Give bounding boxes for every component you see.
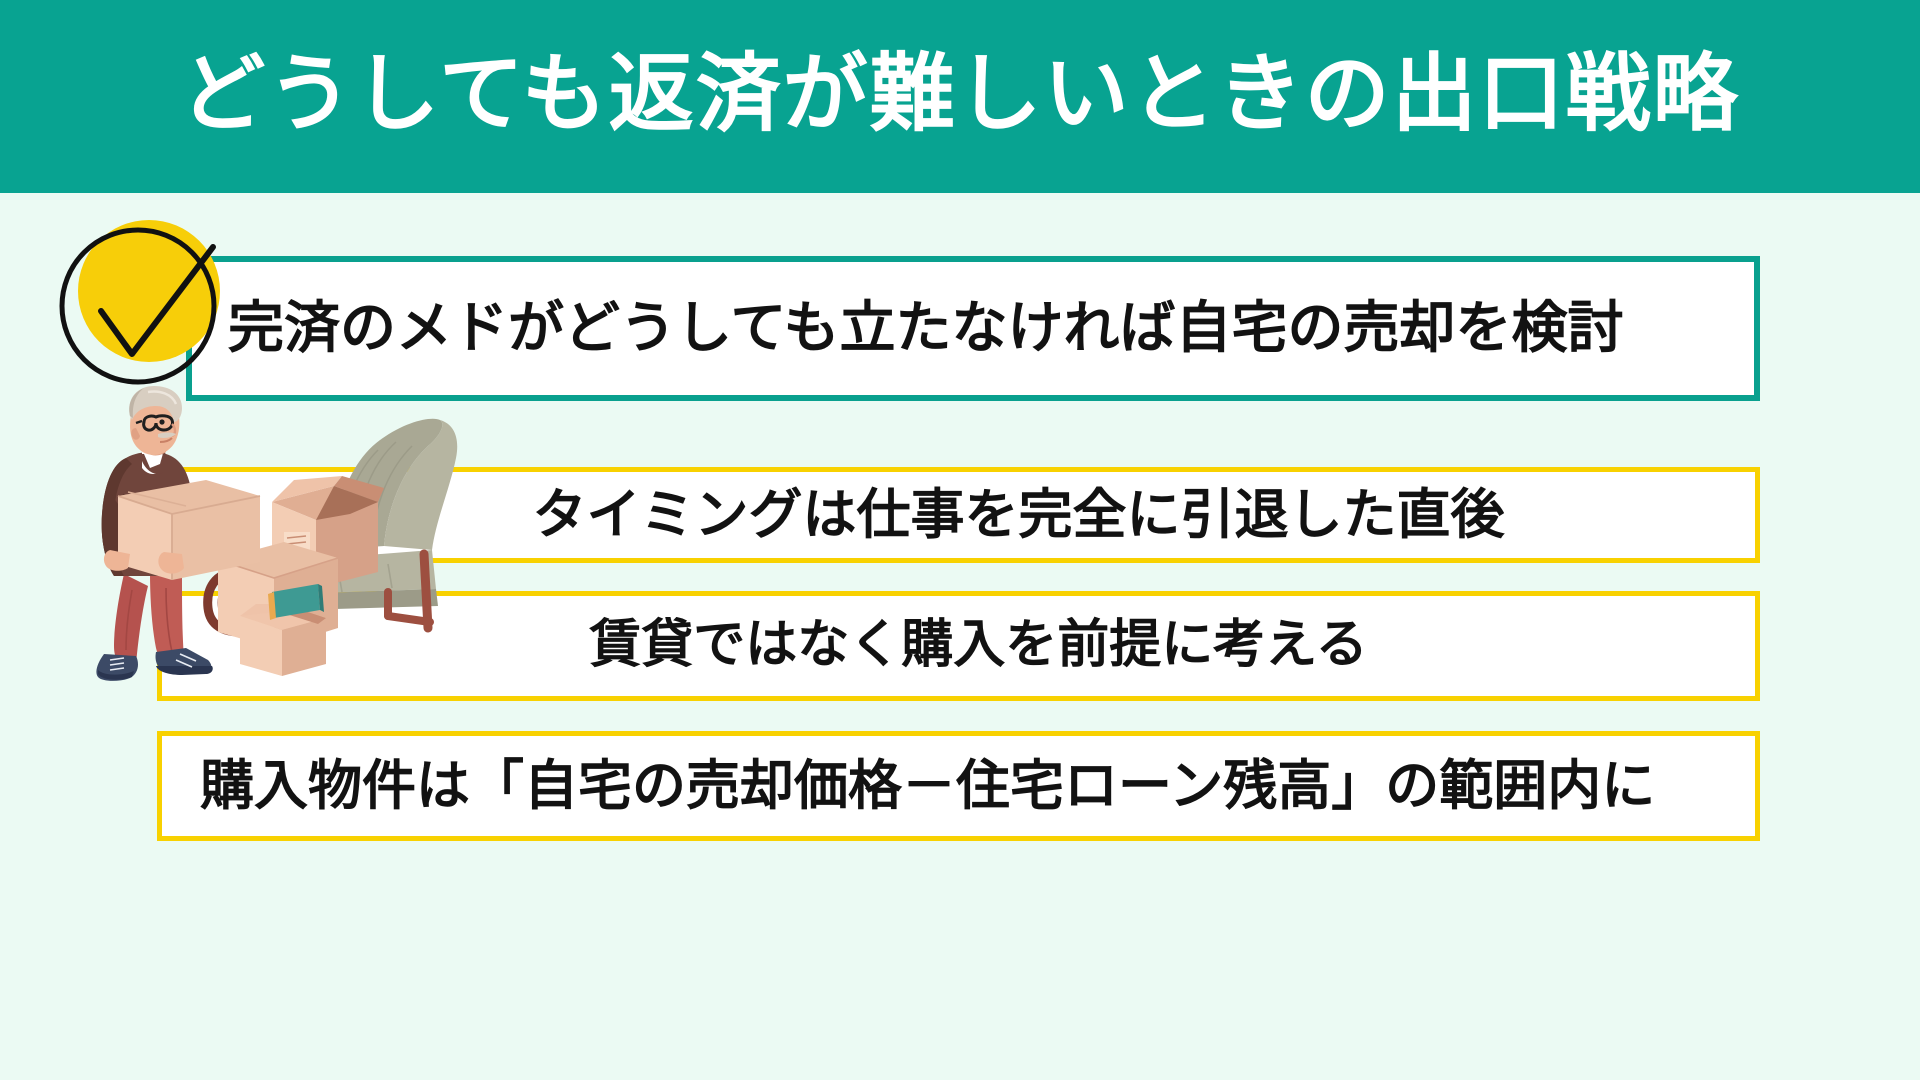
man-moving-boxes-illustration xyxy=(88,384,528,684)
statement-row-3-label: 賃貸ではなく購入を前提に考える xyxy=(549,617,1367,674)
page-title: どうしても返済が難しいときの出口戦略 xyxy=(180,52,1739,137)
statement-row-4: 購入物件は「自宅の売却価格－住宅ローン残高」の範囲内に xyxy=(157,731,1760,841)
statement-row-1: 完済のメドがどうしても立たなければ自宅の売却を検討 xyxy=(186,256,1760,401)
statement-row-4-label: 購入物件は「自宅の売却価格－住宅ローン残高」の範囲内に xyxy=(162,756,1655,815)
slide-canvas: どうしても返済が難しいときの出口戦略 完済のメドがどうしても立たなければ自宅の売… xyxy=(0,0,1920,1080)
statement-row-1-label: 完済のメドがどうしても立たなければ自宅の売却を検討 xyxy=(192,298,1624,360)
statement-row-2-label: タイミングは仕事を完全に引退した直後 xyxy=(413,485,1505,544)
check-circle-icon xyxy=(48,209,234,395)
header-band: どうしても返済が難しいときの出口戦略 xyxy=(0,0,1920,193)
carried-cardboard-box-shape xyxy=(104,480,260,580)
